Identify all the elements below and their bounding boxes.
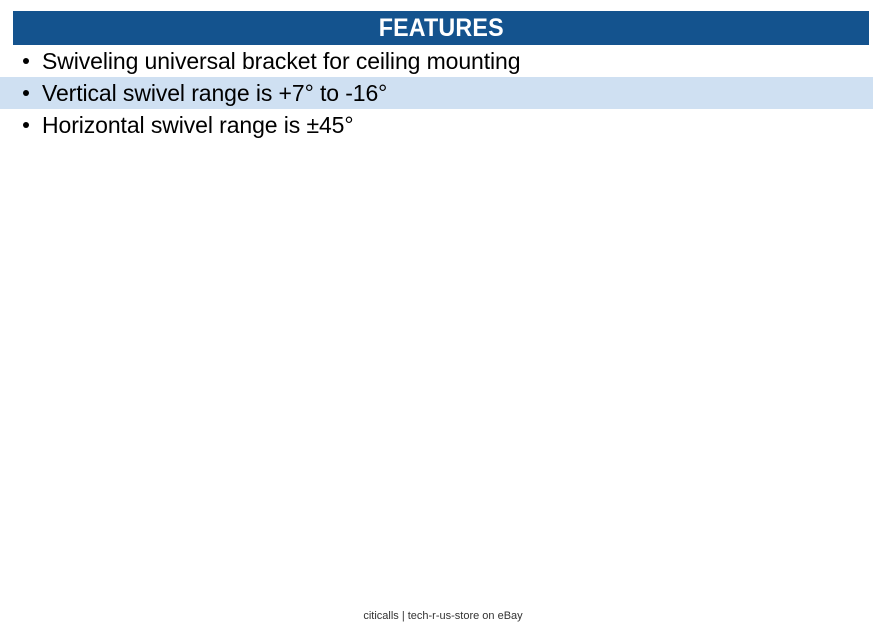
- page-title: FEATURES: [378, 16, 503, 41]
- footer: citicalls | tech-r-us-store on eBay: [0, 606, 886, 624]
- features-list: Swiveling universal bracket for ceiling …: [0, 45, 886, 141]
- bullet-icon: [23, 58, 29, 64]
- list-item-label: Vertical swivel range is +7° to -16°: [42, 80, 387, 106]
- bullet-icon: [23, 122, 29, 128]
- list-item: Vertical swivel range is +7° to -16°: [0, 77, 873, 109]
- slide-canvas: FEATURES Swiveling universal bracket for…: [0, 0, 886, 637]
- bullet-icon: [23, 90, 29, 96]
- list-item: Horizontal swivel range is ±45°: [0, 109, 873, 141]
- list-item-label: Horizontal swivel range is ±45°: [42, 112, 353, 138]
- features-header-banner: FEATURES: [13, 11, 869, 45]
- list-item-label: Swiveling universal bracket for ceiling …: [42, 48, 520, 74]
- footer-attribution-label: citicalls | tech-r-us-store on eBay: [363, 609, 522, 623]
- list-item: Swiveling universal bracket for ceiling …: [0, 45, 873, 77]
